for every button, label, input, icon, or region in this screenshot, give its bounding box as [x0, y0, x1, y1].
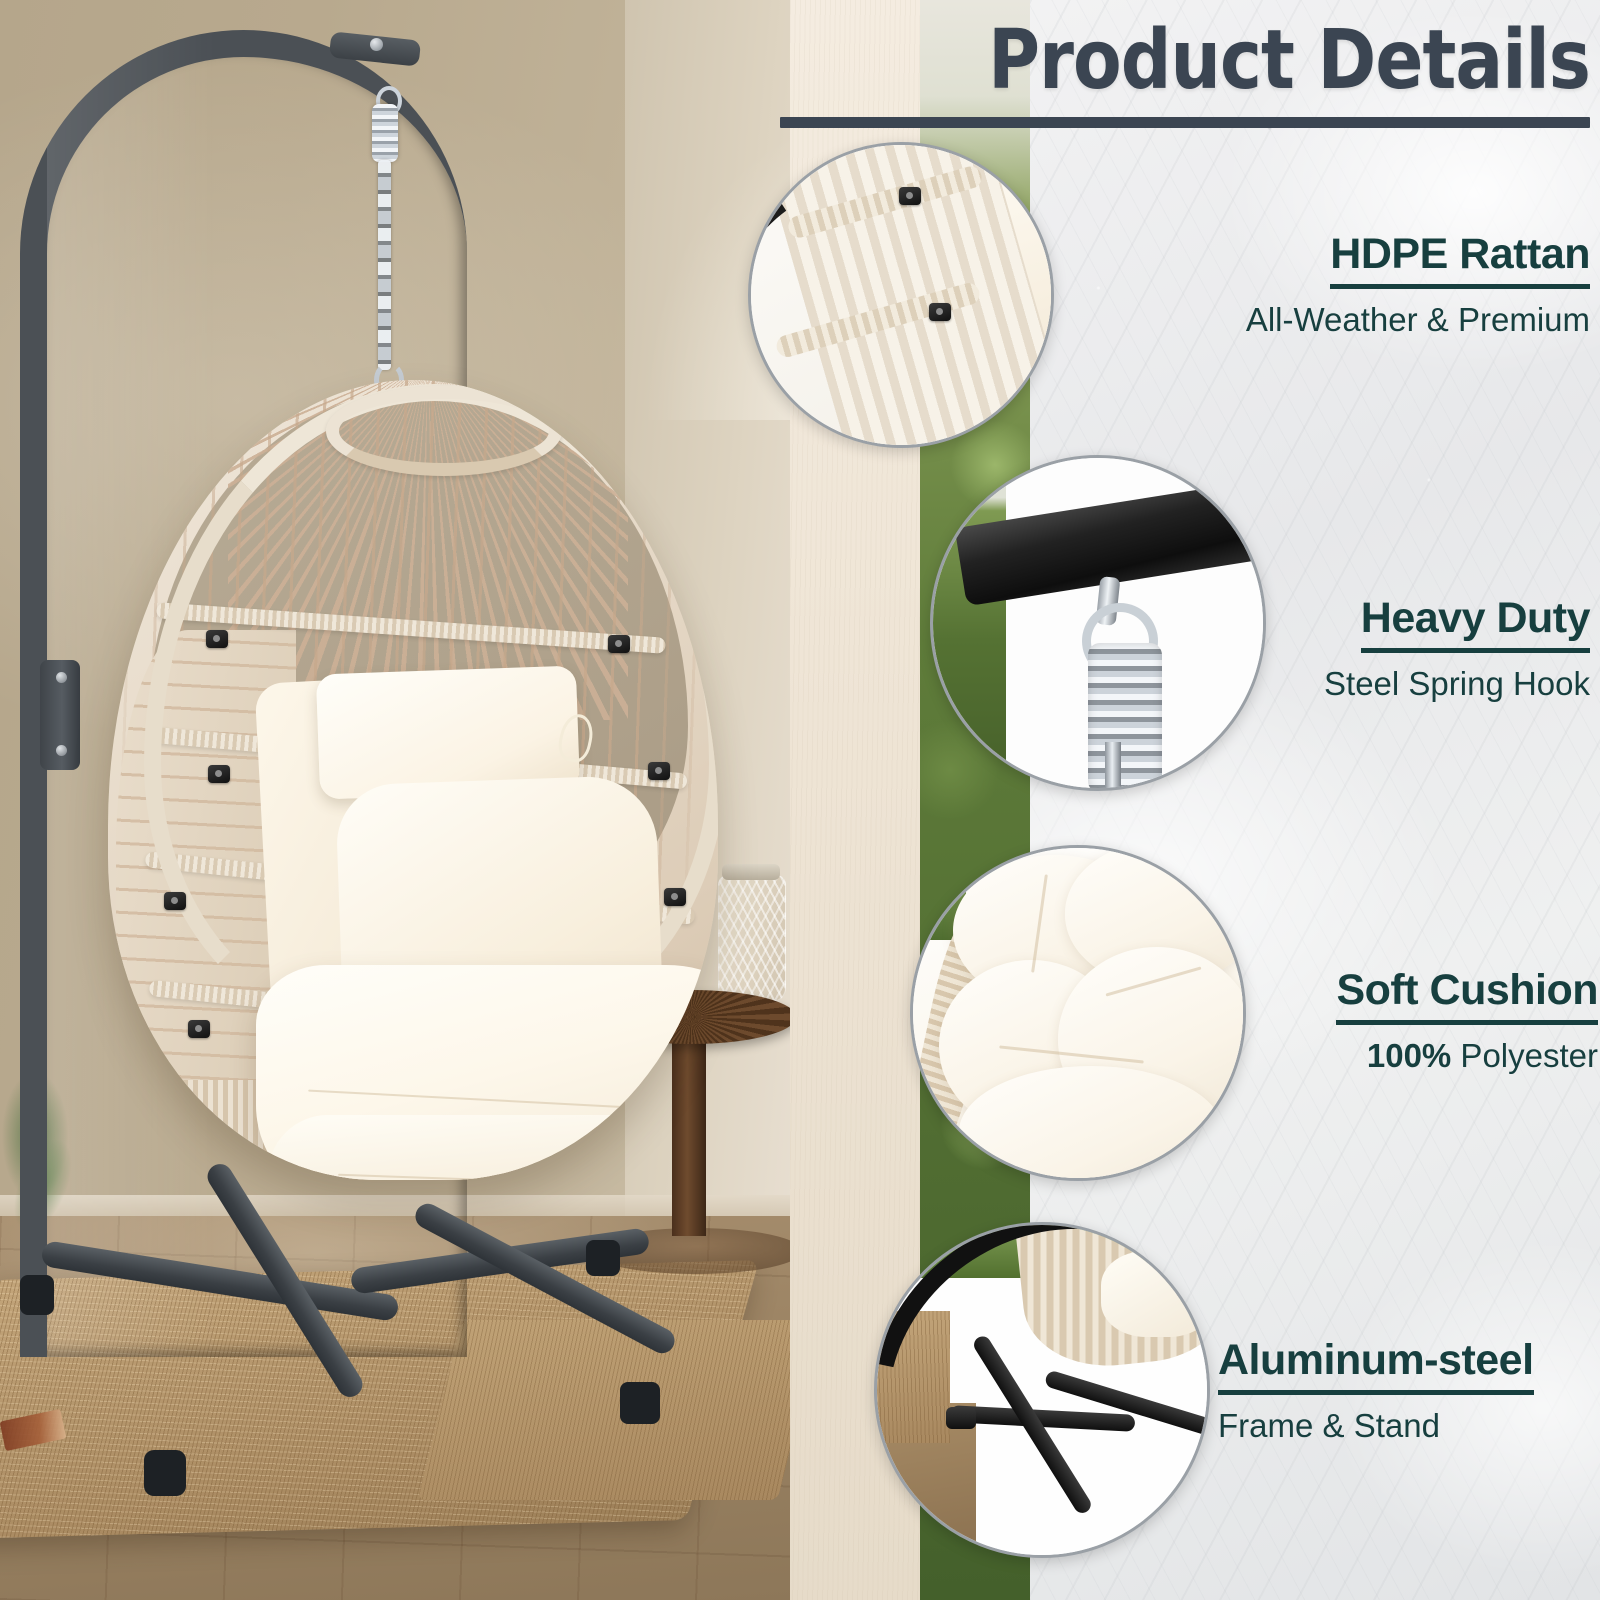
spring-hook	[372, 104, 398, 162]
feature-text-soft-cushion: Soft Cushion 100% Polyester	[1060, 968, 1598, 1076]
feature-subtitle-rest: Polyester	[1451, 1037, 1598, 1074]
rattan-clip	[664, 888, 686, 906]
feature-text-hdpe-rattan: HDPE Rattan All-Weather & Premium	[1060, 232, 1590, 340]
jute-rug-extension	[418, 1320, 790, 1500]
leg-cap-front	[144, 1450, 186, 1496]
feature-heading: HDPE Rattan	[1330, 232, 1590, 289]
rattan-clip	[608, 635, 630, 653]
glass-jar	[718, 875, 786, 1002]
rattan-clip	[206, 630, 228, 648]
feature-text-aluminum-steel: Aluminum-steel Frame & Stand	[1218, 1338, 1598, 1446]
feature-heading: Soft Cushion	[1336, 968, 1598, 1025]
leg-cap-back	[620, 1382, 660, 1424]
c-stand-bolt	[370, 38, 383, 51]
clamp-bolt-bottom	[56, 745, 67, 756]
feature-subtitle-bold: 100%	[1367, 1037, 1451, 1074]
hero-room-photo	[0, 0, 790, 1600]
title-underline	[780, 117, 1590, 128]
rattan-clip	[648, 762, 670, 780]
clamp-bolt-top	[56, 672, 67, 683]
feature-subtitle: Frame & Stand	[1218, 1405, 1598, 1446]
feature-subtitle: 100% Polyester	[1060, 1035, 1598, 1076]
feature-subtitle: Steel Spring Hook	[1060, 663, 1590, 704]
steel-stand-base-closeup-circle	[874, 1222, 1210, 1558]
feature-subtitle: All-Weather & Premium	[1060, 299, 1590, 340]
hook-circle-shaft	[1105, 742, 1121, 791]
rattan-egg-chair	[108, 380, 718, 1180]
rattan-clip	[164, 892, 186, 910]
leg-cap-right	[586, 1240, 620, 1276]
rattan-weave-closeup-circle	[748, 142, 1054, 448]
infographic-canvas: Product Details	[0, 0, 1600, 1600]
feature-heading: Heavy Duty	[1361, 596, 1590, 653]
leg-cap-left	[20, 1275, 54, 1315]
hanging-chain	[378, 160, 391, 370]
rattan-clip-icon	[999, 407, 1021, 425]
egg-top-hoop	[326, 386, 562, 476]
feature-heading: Aluminum-steel	[1218, 1338, 1534, 1395]
rattan-clip	[188, 1020, 210, 1038]
hook-circle-foliage	[933, 458, 1006, 788]
seat-cushion-roll	[268, 1115, 718, 1180]
feature-text-heavy-duty: Heavy Duty Steel Spring Hook	[1060, 596, 1590, 704]
stand-circle-leg-cap	[946, 1407, 976, 1429]
glass-jar-lid	[722, 864, 780, 880]
page-title: Product Details	[810, 20, 1590, 102]
rattan-clip	[208, 765, 230, 783]
